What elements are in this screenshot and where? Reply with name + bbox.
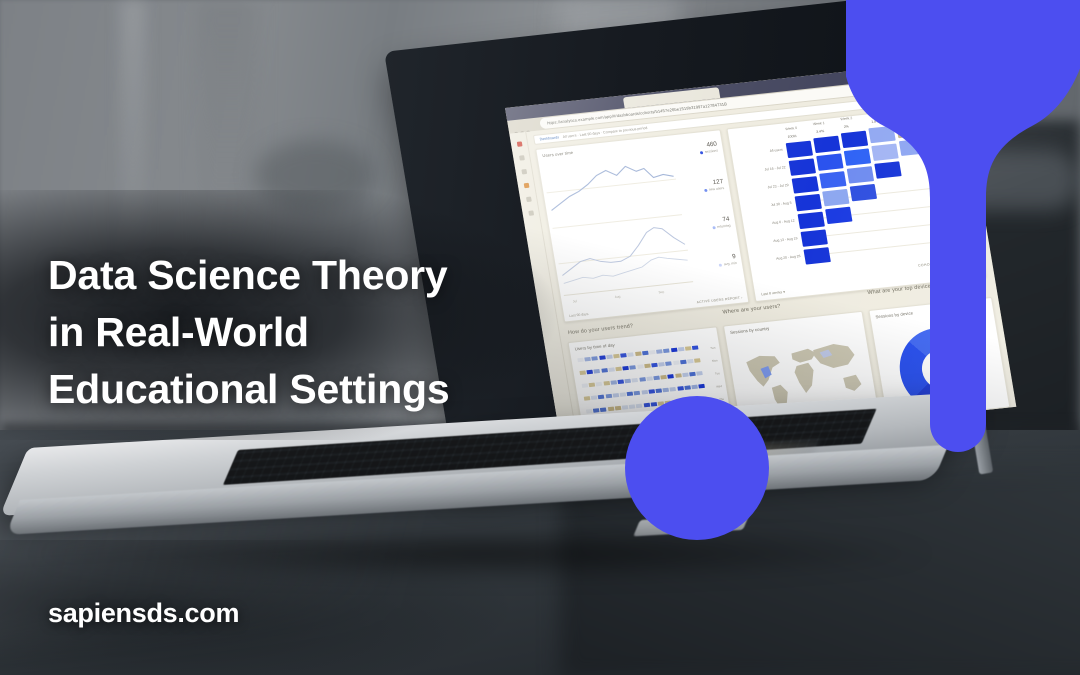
browser-nav-buttons[interactable] bbox=[513, 121, 536, 130]
hours-heatmap-cell bbox=[641, 390, 648, 395]
metric-2: 74 returning bbox=[711, 216, 731, 230]
hours-heatmap-cell bbox=[671, 348, 678, 353]
metric-label: returning bbox=[712, 223, 731, 229]
blog-cover-image: https://analytics.example.com/app/#/dash… bbox=[0, 0, 1080, 675]
sidebar-icon-reports[interactable] bbox=[521, 169, 527, 174]
hours-heatmap-cell bbox=[685, 346, 692, 351]
hours-heatmap-cell bbox=[627, 352, 634, 357]
hours-heatmap-cell bbox=[615, 367, 622, 372]
hours-heatmap-cell bbox=[615, 406, 622, 411]
hours-heatmap-cell bbox=[684, 385, 691, 390]
metric-0: 460 sessions bbox=[698, 141, 718, 155]
hours-heatmap-cell bbox=[653, 376, 660, 381]
metric-label: sessions bbox=[699, 149, 718, 155]
cohort-row-label: Aug 13 - Aug 19 bbox=[751, 236, 797, 245]
sidebar-icon-alerts[interactable] bbox=[523, 183, 529, 188]
hours-heatmap-cell bbox=[642, 351, 649, 356]
hours-heatmap-cell bbox=[655, 388, 662, 393]
hours-heatmap-cell bbox=[656, 349, 663, 354]
hours-heatmap-cell bbox=[643, 403, 650, 408]
laptop-drop-shadow bbox=[40, 535, 940, 581]
cohort-row-label: Jul 23 - Jul 29 bbox=[742, 183, 788, 192]
hours-heatmap-cell bbox=[610, 380, 617, 385]
hours-heatmap-cell bbox=[637, 364, 644, 369]
headline-line-1: Data Science Theory bbox=[48, 247, 608, 304]
hours-heatmap-cell bbox=[613, 354, 620, 359]
hours-heatmap-cell bbox=[648, 389, 655, 394]
hours-heatmap-cell bbox=[608, 367, 615, 372]
sidebar-icon-segments[interactable] bbox=[525, 197, 531, 202]
hours-heatmap-cell bbox=[632, 378, 639, 383]
cohort-row-label: Aug 20 - Aug 26 bbox=[754, 254, 800, 263]
hours-heatmap-cell bbox=[660, 375, 667, 380]
hours-heatmap-cell bbox=[663, 388, 670, 393]
brand-circle-shape bbox=[625, 396, 769, 540]
cohort-range-selector[interactable]: Last 8 weeks ▾ bbox=[761, 290, 785, 296]
hours-heatmap-cell bbox=[668, 374, 675, 379]
headline-line-3: Educational Settings bbox=[48, 361, 608, 418]
hours-heatmap-cell bbox=[607, 407, 614, 412]
hours-heatmap-cell bbox=[625, 379, 632, 384]
hours-heatmap-cell bbox=[677, 386, 684, 391]
hours-heatmap-cell bbox=[696, 371, 703, 376]
hours-heatmap-cell bbox=[612, 393, 619, 398]
hours-row-label: Tue bbox=[715, 371, 720, 375]
hours-heatmap-cell bbox=[675, 373, 682, 378]
hours-heatmap-cell bbox=[649, 350, 656, 355]
cohort-col-header: Week 0 bbox=[785, 126, 797, 131]
site-url-label: sapiensds.com bbox=[48, 598, 239, 629]
headline-line-2: in Real-World bbox=[48, 304, 608, 361]
hours-heatmap-cell bbox=[680, 360, 687, 365]
hours-heatmap-cell bbox=[678, 347, 685, 352]
section-question-where: Where are your users? bbox=[722, 303, 781, 315]
hours-heatmap-cell bbox=[694, 358, 701, 363]
hours-heatmap-cell bbox=[634, 391, 641, 396]
hours-heatmap-cell bbox=[650, 402, 657, 407]
svg-text:Sep: Sep bbox=[658, 290, 665, 295]
hours-heatmap-cell bbox=[673, 361, 680, 366]
metric-label: avg. min bbox=[719, 261, 737, 267]
hours-heatmap-cell bbox=[665, 361, 672, 366]
cohort-row-label: All users bbox=[737, 148, 783, 157]
toolbar-filter[interactable]: All users · Last 90 days · Compare to pr… bbox=[562, 126, 647, 139]
hours-heatmap-cell bbox=[689, 372, 696, 377]
hours-heatmap-cell bbox=[630, 365, 637, 370]
hours-heatmap-cell bbox=[670, 387, 677, 392]
hours-heatmap-cell bbox=[629, 404, 636, 409]
metric-1: 127 new users bbox=[702, 178, 724, 192]
hours-heatmap-cell bbox=[682, 373, 689, 378]
hours-row-label: Mon bbox=[712, 358, 718, 363]
cohort-col-header: Week 1 bbox=[813, 121, 825, 126]
hours-heatmap-cell bbox=[636, 404, 643, 409]
hours-row-label: Sun bbox=[710, 346, 716, 350]
hours-heatmap-cell bbox=[627, 392, 634, 397]
metric-label: new users bbox=[703, 186, 724, 192]
hours-heatmap-cell bbox=[691, 385, 698, 390]
toolbar-breadcrumb[interactable]: Dashboards bbox=[539, 135, 559, 141]
sidebar-icon-logo[interactable] bbox=[516, 141, 522, 146]
cohort-col-pct: 3.4% bbox=[816, 129, 825, 134]
active-users-report-link[interactable]: ACTIVE USERS REPORT › bbox=[696, 295, 742, 304]
hours-heatmap-cell bbox=[617, 379, 624, 384]
cohort-row-label: Jul 16 - Jul 22 bbox=[739, 165, 785, 174]
svg-text:Aug: Aug bbox=[614, 294, 621, 299]
sidebar-icon-settings[interactable] bbox=[528, 210, 534, 215]
hours-heatmap-cell bbox=[620, 392, 627, 397]
cohort-col-pct: 100% bbox=[787, 134, 797, 139]
metric-3: 9 avg. min bbox=[717, 253, 737, 267]
hours-row-label: Wed bbox=[716, 384, 722, 389]
page-title: Data Science Theory in Real-World Educat… bbox=[48, 247, 608, 418]
brand-funnel-shape bbox=[846, 0, 1080, 480]
sidebar-icon-home[interactable] bbox=[519, 155, 525, 160]
hours-heatmap-cell bbox=[646, 376, 653, 381]
hours-heatmap-cell bbox=[635, 352, 642, 357]
hours-heatmap-cell bbox=[620, 353, 627, 358]
hours-heatmap-cell bbox=[651, 363, 658, 368]
hours-heatmap-cell bbox=[663, 348, 670, 353]
hours-heatmap-cell bbox=[658, 362, 665, 367]
hours-heatmap-cell bbox=[692, 345, 699, 350]
hours-heatmap-cell bbox=[639, 377, 646, 382]
cohort-row-label: Aug 6 - Aug 12 bbox=[748, 219, 794, 228]
hours-heatmap-cell bbox=[698, 384, 705, 389]
cohort-row-label: Jul 30 - Aug 5 bbox=[745, 201, 791, 210]
hours-heatmap-cell bbox=[687, 359, 694, 364]
hours-heatmap-cell bbox=[622, 366, 629, 371]
hours-heatmap-cell bbox=[622, 405, 629, 410]
hours-heatmap-cell bbox=[644, 364, 651, 369]
